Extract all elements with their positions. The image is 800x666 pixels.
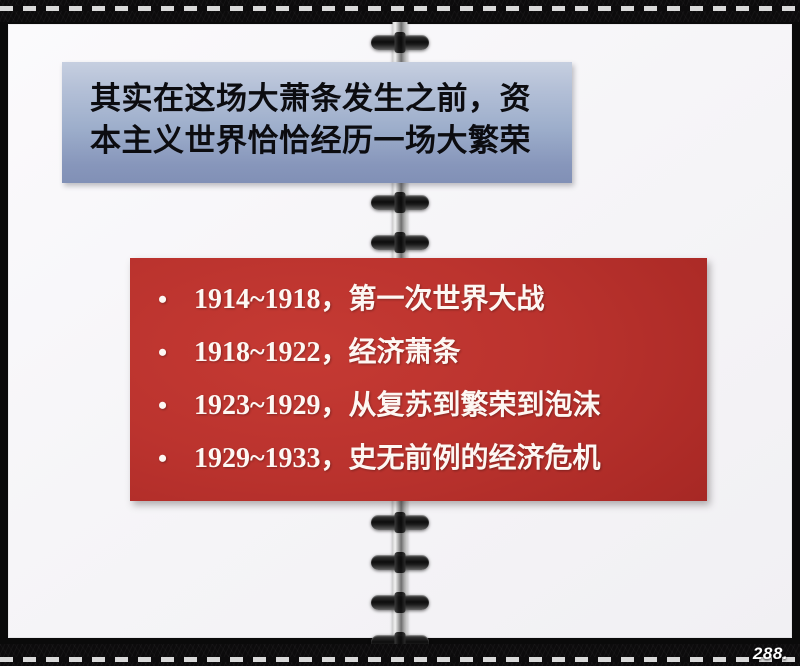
list-item: • 1929~1933，史无前例的经济危机 (158, 439, 683, 479)
heading-banner: 其实在这场大萧条发生之前，资 本主义世界恰恰经历一场大繁荣 (62, 62, 572, 183)
heading-text: 其实在这场大萧条发生之前，资 本主义世界恰恰经历一场大繁荣 (90, 78, 552, 162)
bullet-label: 1918~1922，经济萧条 (194, 333, 683, 373)
bullet-panel: • 1914~1918，第一次世界大战 • 1918~1922，经济萧条 • 1… (130, 258, 707, 501)
film-grain (0, 644, 800, 666)
list-item: • 1918~1922，经济萧条 (158, 333, 683, 373)
film-strip-top (0, 0, 800, 22)
bullet-dot-icon: • (158, 439, 194, 479)
bullet-label: 1923~1929，从复苏到繁荣到泡沫 (194, 386, 683, 426)
sprocket-dashes (0, 6, 800, 11)
list-item: • 1923~1929，从复苏到繁荣到泡沫 (158, 386, 683, 426)
bullet-label: 1914~1918，第一次世界大战 (194, 280, 683, 320)
sprocket-dashes (0, 657, 800, 662)
bullet-dot-icon: • (158, 280, 194, 320)
list-item: • 1914~1918，第一次世界大战 (158, 280, 683, 320)
slide-frame: 其实在这场大萧条发生之前，资 本主义世界恰恰经历一场大繁荣 • 1914~191… (0, 0, 800, 666)
bullet-dot-icon: • (158, 333, 194, 373)
bullet-label: 1929~1933，史无前例的经济危机 (194, 439, 683, 479)
bullet-list: • 1914~1918，第一次世界大战 • 1918~1922，经济萧条 • 1… (158, 280, 683, 479)
bullet-dot-icon: • (158, 386, 194, 426)
film-strip-bottom (0, 644, 800, 666)
film-grain (0, 0, 800, 22)
page-number: 288. (753, 644, 788, 664)
